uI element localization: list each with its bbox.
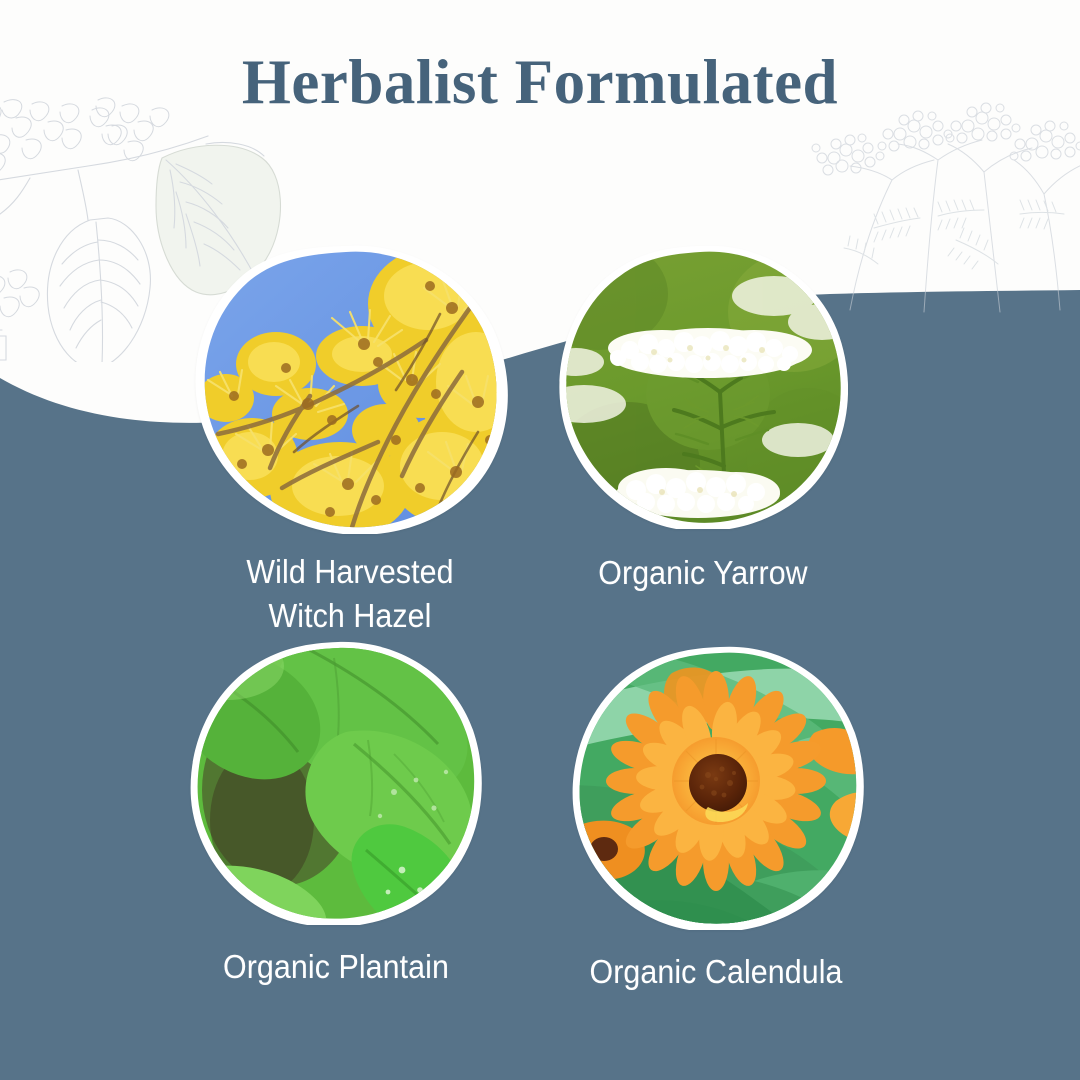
ingredient-grid: Wild Harvested Witch Hazel [0,0,1080,1080]
plantain-photo-ring [188,640,484,925]
plantain-photo [188,640,484,925]
label-line-1: Organic Calendula [580,950,852,994]
witch-hazel-photo [190,244,510,534]
ingredient-label-witch-hazel: Wild Harvested Witch Hazel [203,550,497,637]
poster-canvas: Herbalist Formulated [0,0,1080,1080]
ingredient-card-plantain[interactable]: Organic Plantain [188,640,484,989]
calendula-photo [568,645,864,930]
ingredient-card-yarrow[interactable]: Organic Yarrow [558,244,848,595]
page-title: Herbalist Formulated [0,48,1080,116]
label-line-2: Witch Hazel [203,594,497,638]
ingredient-card-calendula[interactable]: Organic Calendula [568,645,864,994]
label-line-1: Organic Plantain [200,945,472,989]
ingredient-label-yarrow: Organic Yarrow [570,551,837,595]
ingredient-label-calendula: Organic Calendula [580,950,852,994]
yarrow-photo-ring [558,244,848,529]
witch-hazel-photo-ring [190,244,510,534]
label-line-1: Organic Yarrow [570,551,837,595]
ingredient-card-witch-hazel[interactable]: Wild Harvested Witch Hazel [190,244,510,637]
calendula-photo-ring [568,645,864,930]
ingredient-label-plantain: Organic Plantain [200,945,472,989]
label-line-1: Wild Harvested [203,550,497,594]
yarrow-photo [558,244,848,529]
